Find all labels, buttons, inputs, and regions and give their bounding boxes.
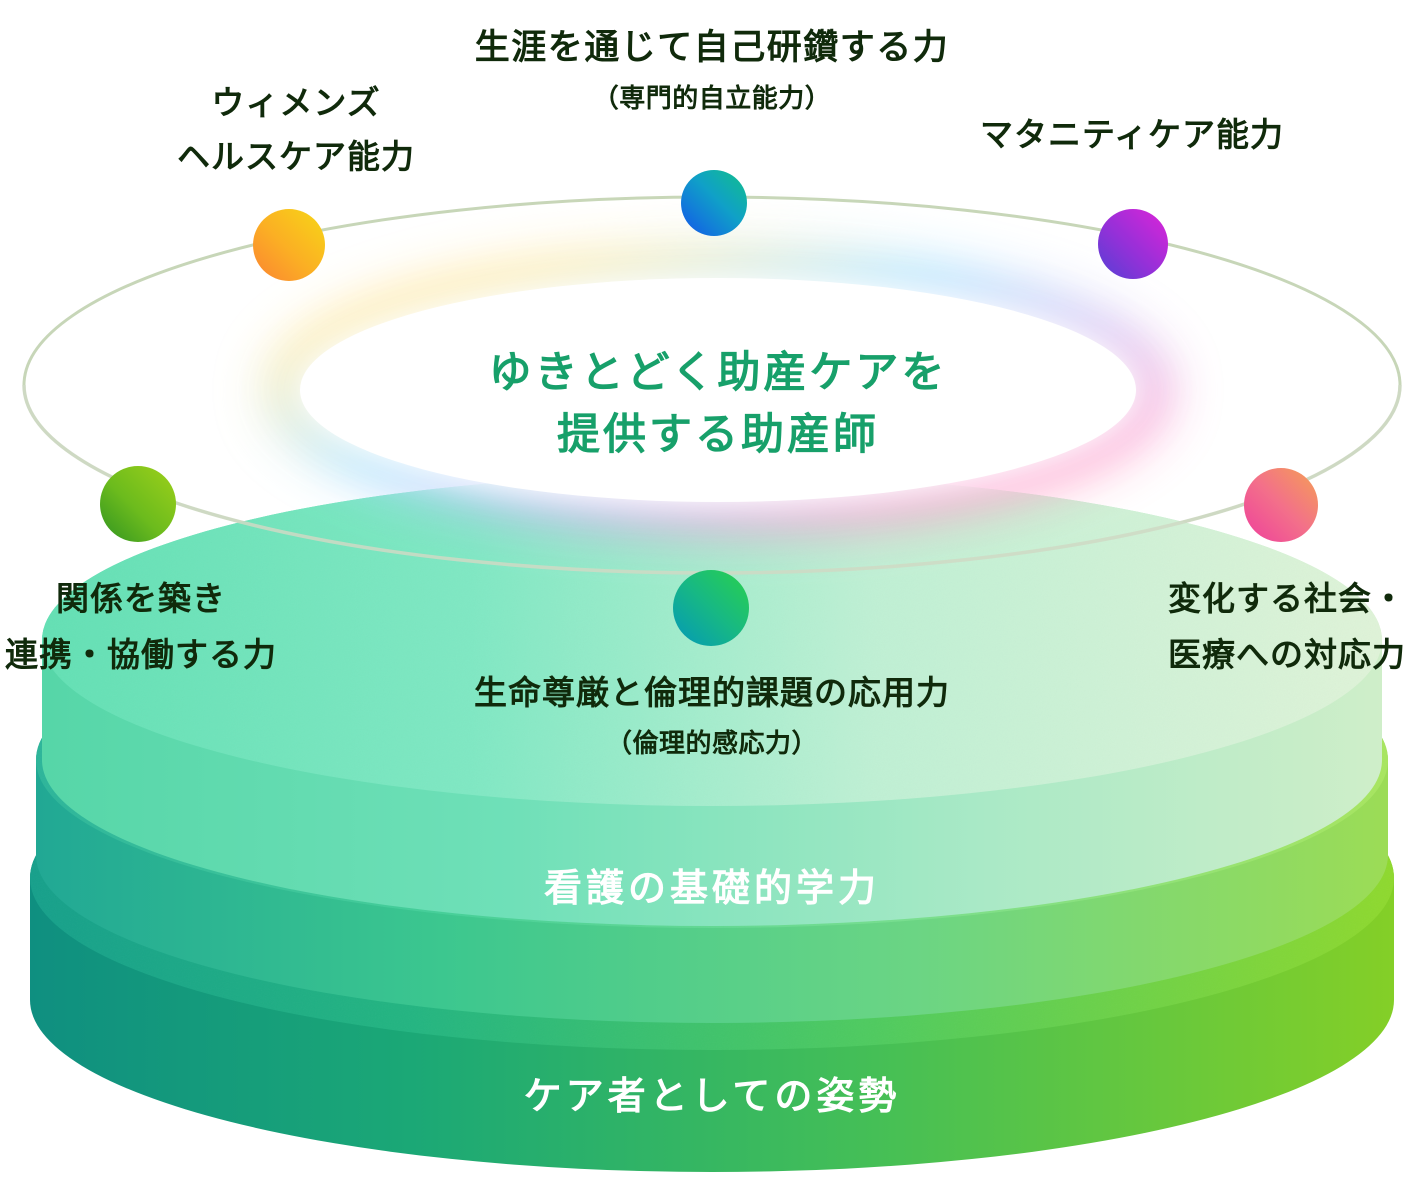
label-lifelong-learning-main: 生涯を通じて自己研鑽する力 [412,26,1012,71]
label-relationship-collab-line1: 関係を築き [0,578,306,620]
node-lifelong-learning[interactable] [681,170,747,236]
label-social-medical-change-line1: 変化する社会・ [1122,578,1424,620]
page-title-line2: 提供する助産師 [318,404,1118,466]
label-womens-healthcare-line2: ヘルスケア能力 [128,136,464,178]
label-layer-ethics: 生命尊厳と倫理的課題の応用力 （倫理的感応力） [362,672,1062,762]
label-social-medical-change-line2: 医療への対応力 [1122,634,1424,676]
label-layer-ethics-sub: （倫理的感応力） [362,728,1062,761]
page-title: ゆきとどく助産ケアを 提供する助産師 [318,342,1118,467]
label-womens-healthcare: ウィメンズ ヘルスケア能力 [128,82,464,178]
label-layer-nursing-basics: 看護の基礎的学力 [412,864,1012,913]
label-layer-nursing-basics-main: 看護の基礎的学力 [412,864,1012,913]
page-title-line1: ゆきとどく助産ケアを [318,342,1118,404]
label-lifelong-learning: 生涯を通じて自己研鑽する力 （専門的自立能力） [412,26,1012,116]
label-layer-ethics-main: 生命尊厳と倫理的課題の応用力 [362,672,1062,714]
node-ethical-sensitivity[interactable] [673,570,749,646]
label-maternity-care: マタニティケア能力 [948,114,1316,156]
diagram-canvas: 生涯を通じて自己研鑽する力 （専門的自立能力） ウィメンズ ヘルスケア能力 マタ… [0,0,1424,1178]
label-relationship-collab: 関係を築き 連携・協働する力 [0,578,306,676]
label-womens-healthcare-line1: ウィメンズ [128,82,464,124]
label-layer-caregiver-attitude: ケア者としての姿勢 [412,1072,1012,1121]
label-lifelong-learning-sub: （専門的自立能力） [412,83,1012,116]
label-social-medical-change: 変化する社会・ 医療への対応力 [1122,578,1424,676]
label-maternity-care-line1: マタニティケア能力 [948,114,1316,156]
node-maternity-care[interactable] [1098,209,1168,279]
node-womens-healthcare[interactable] [253,209,325,281]
label-layer-caregiver-attitude-main: ケア者としての姿勢 [412,1072,1012,1121]
node-relationship-collab[interactable] [100,466,176,542]
label-relationship-collab-line2: 連携・協働する力 [0,634,306,676]
node-social-medical-change[interactable] [1244,468,1318,542]
